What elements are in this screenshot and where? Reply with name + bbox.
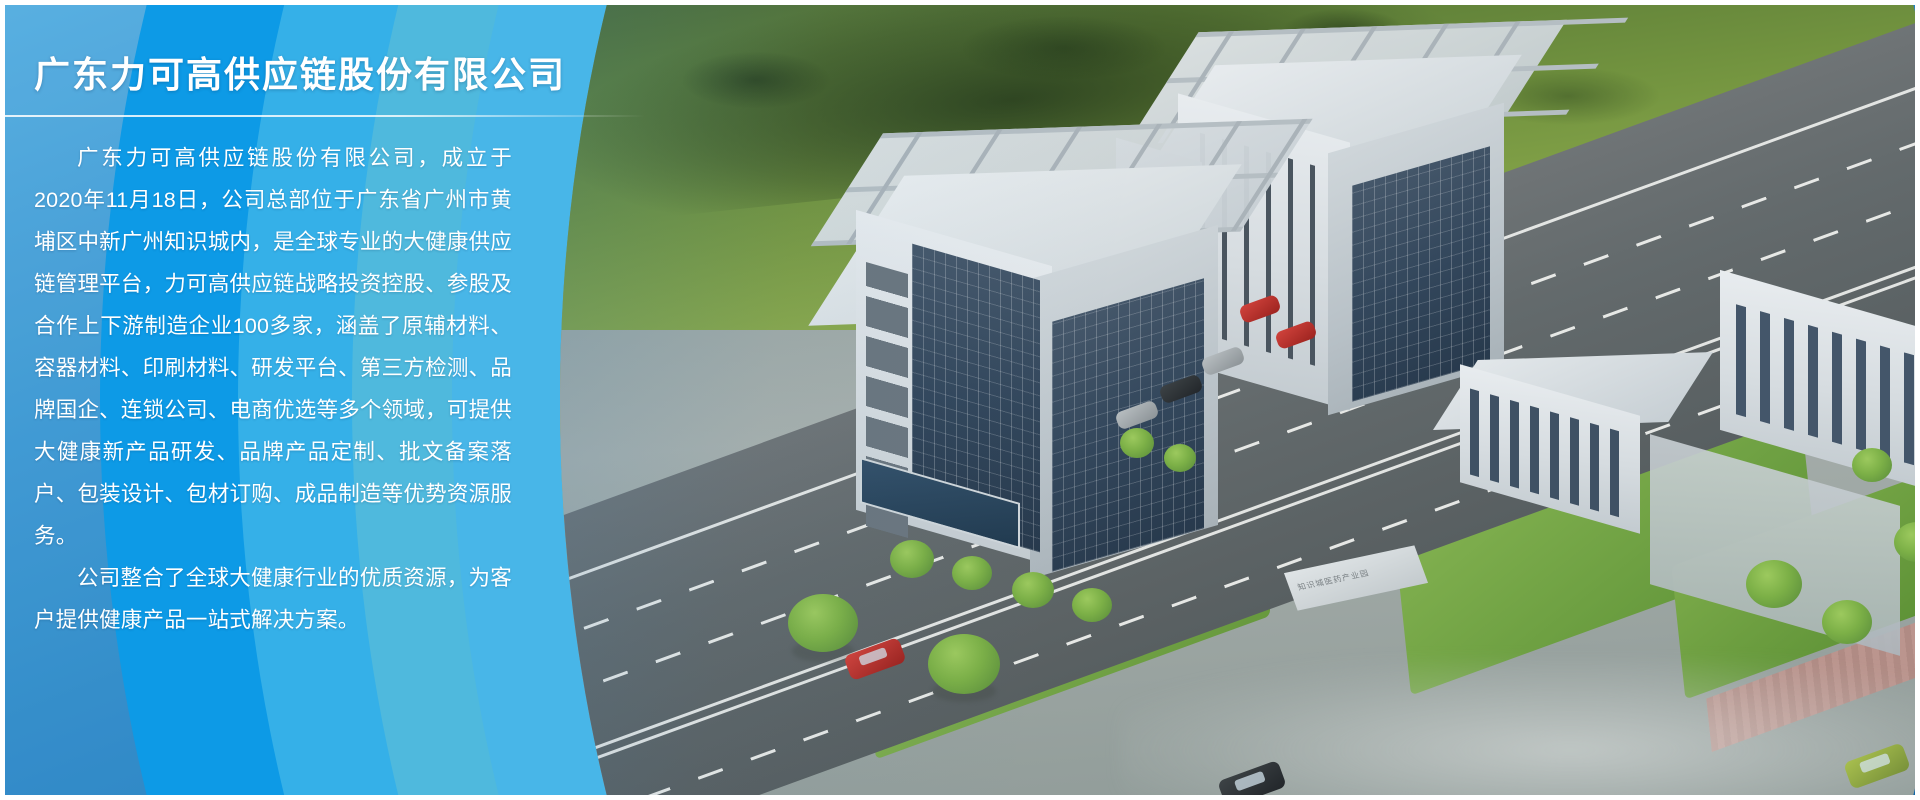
company-description: 广东力可高供应链股份有限公司，成立于2020年11月18日，公司总部位于广东省广… <box>34 137 512 641</box>
shrub-4 <box>1072 588 1112 622</box>
street-tree-1 <box>788 594 858 652</box>
shrub-5 <box>1120 428 1154 458</box>
car-green-windshield <box>1859 753 1891 774</box>
site-signage-text: 知识城医药产业园 <box>1296 568 1371 593</box>
street-tree-2 <box>928 634 1000 694</box>
photo-circular-mask: 知识城医药产业园 <box>560 0 1920 800</box>
shrub-6 <box>1164 444 1196 472</box>
shrub-3 <box>1012 572 1054 608</box>
text-panel: 广东力可高供应链股份有限公司 广东力可高供应链股份有限公司，成立于2020年11… <box>0 0 620 800</box>
tree-right-1 <box>1746 560 1802 608</box>
rear-tower-curtain-wall <box>1352 146 1490 402</box>
shrub-2 <box>952 556 992 590</box>
page-title: 广东力可高供应链股份有限公司 <box>34 52 620 99</box>
company-description-paragraph-2: 公司整合了全球大健康行业的优质资源，为客户提供健康产品一站式解决方案。 <box>34 557 512 641</box>
tree-right-4 <box>1852 448 1892 482</box>
title-divider-rule <box>0 115 645 117</box>
shrub-1 <box>890 540 934 578</box>
tree-right-2 <box>1822 600 1872 644</box>
car-red-windshield <box>858 647 888 666</box>
car-dark-windshield <box>1234 771 1266 792</box>
company-profile-banner: 知识城医药产业园 <box>0 0 1920 800</box>
company-description-paragraph-1: 广东力可高供应链股份有限公司，成立于2020年11月18日，公司总部位于广东省广… <box>34 137 512 557</box>
industrial-park-photo: 知识城医药产业园 <box>560 0 1920 800</box>
